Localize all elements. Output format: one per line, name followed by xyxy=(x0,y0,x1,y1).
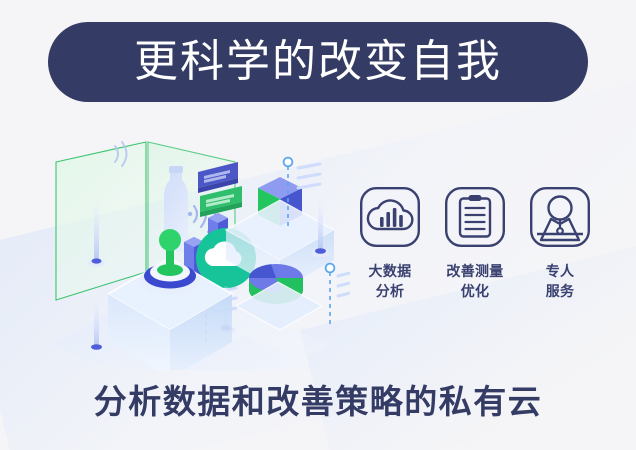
support-agent-icon xyxy=(529,186,591,248)
feature-list: 大数据 分析 改善测量 优化 xyxy=(352,186,598,331)
hero-illustration xyxy=(30,130,350,370)
data-connector-right-bottom xyxy=(326,264,350,328)
feature-item-support[interactable]: 专人 服务 xyxy=(522,186,598,302)
cloud-bar-chart-icon xyxy=(359,186,421,248)
illustration-svg xyxy=(30,130,350,370)
poster-canvas: 更科学的改变自我 xyxy=(0,0,636,450)
feature-item-measurement[interactable]: 改善测量 优化 xyxy=(437,186,513,302)
feature-item-big-data[interactable]: 大数据 分析 xyxy=(352,186,428,302)
feature-label-support: 专人 服务 xyxy=(546,261,575,302)
feature-label-big-data: 大数据 分析 xyxy=(369,261,412,302)
page-title: 更科学的改变自我 xyxy=(134,40,502,84)
footer-headline: 分析数据和改善策略的私有云 xyxy=(0,385,636,418)
feature-label-measurement: 改善测量 优化 xyxy=(446,261,503,302)
header-banner: 更科学的改变自我 xyxy=(48,22,588,102)
clipboard-icon xyxy=(444,186,506,248)
